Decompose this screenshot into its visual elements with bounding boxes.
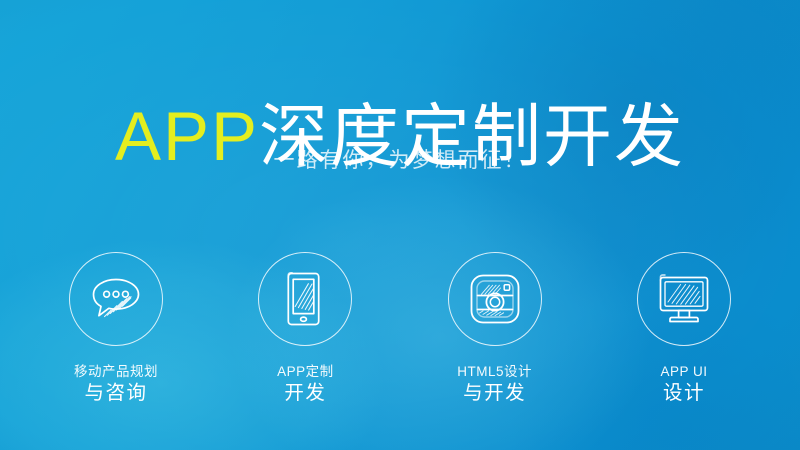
feature-label-bottom: 与咨询 [74,381,158,406]
feature-item[interactable]: 移动产品规划 与咨询 [26,252,206,406]
feature-label-bottom: 与开发 [457,381,532,406]
speech-bubble-dots-icon [88,273,144,325]
feature-label-top: APP UI [660,364,707,381]
feature-icon-circle [637,252,731,346]
subtitle: 一路有你，为梦想而征！ [0,150,800,171]
feature-list: 移动产品规划 与咨询 [26,252,774,406]
feature-labels: 移动产品规划 与咨询 [74,364,158,406]
feature-labels: APP UI 设计 [660,364,707,406]
feature-labels: HTML5设计 与开发 [457,364,532,406]
feature-icon-circle [69,252,163,346]
feature-item[interactable]: HTML5设计 与开发 [405,252,585,406]
promo-banner: APP深度定制开发 一路有你，为梦想而征！ [0,0,800,450]
feature-icon-circle [258,252,352,346]
feature-label-top: APP定制 [277,364,334,381]
feature-item[interactable]: APP UI 设计 [594,252,774,406]
camera-icon [467,271,523,327]
feature-item[interactable]: APP定制 开发 [215,252,395,406]
desktop-monitor-icon [654,272,714,326]
banner-content: APP深度定制开发 一路有你，为梦想而征！ [0,0,800,450]
feature-label-top: 移动产品规划 [74,364,158,381]
feature-icon-circle [448,252,542,346]
feature-labels: APP定制 开发 [277,364,334,406]
tablet-device-icon [281,270,329,328]
feature-label-bottom: 开发 [277,381,334,406]
feature-label-bottom: 设计 [660,381,707,406]
feature-label-top: HTML5设计 [457,364,532,381]
